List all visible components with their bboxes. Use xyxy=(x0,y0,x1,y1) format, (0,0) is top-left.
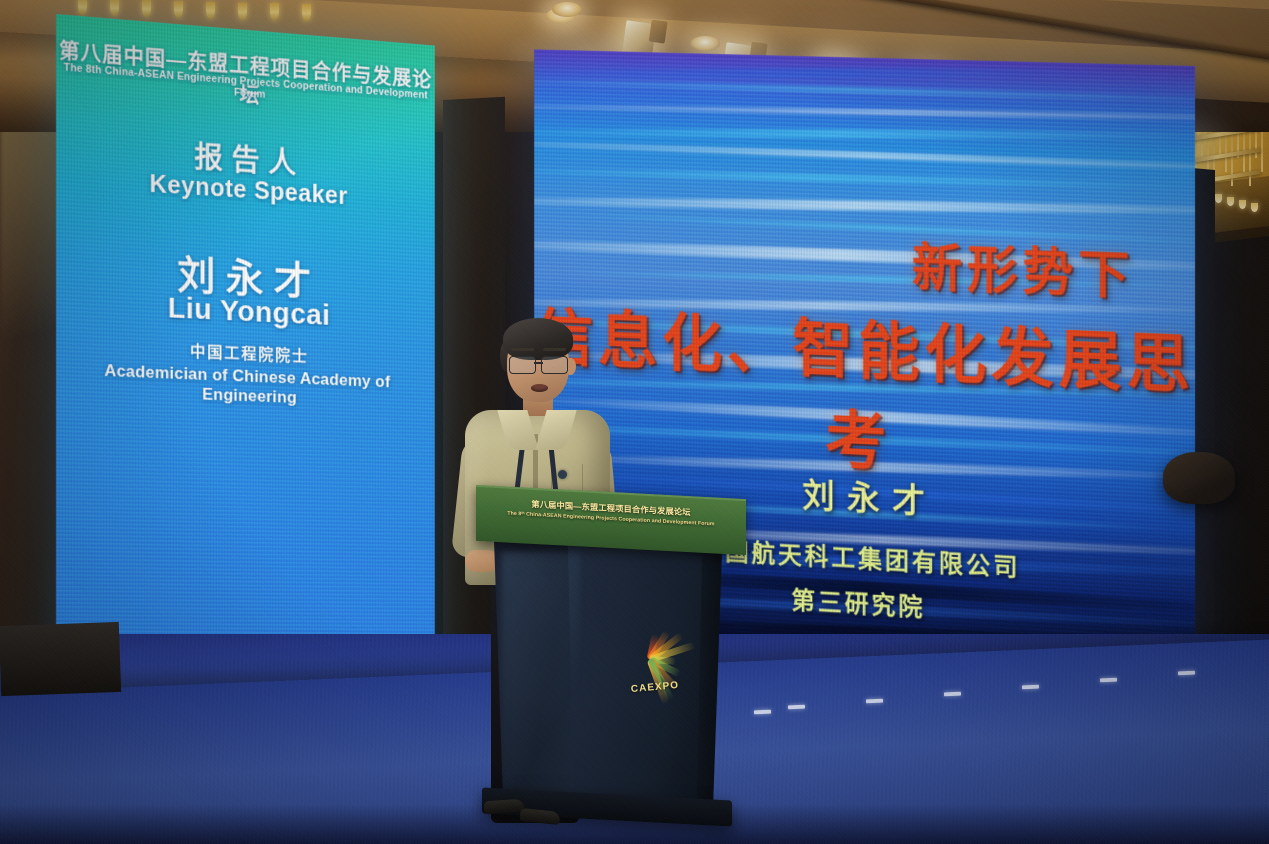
left-wall-highlight xyxy=(0,96,62,426)
chandelier-bulb xyxy=(1215,194,1222,203)
glasses-lens-right xyxy=(541,356,568,374)
stage-edge-marker xyxy=(1100,678,1117,683)
gold-bead-decor xyxy=(174,1,183,18)
podium: CAEXPO 第八届中国—东盟工程项目合作与发展论坛 The 8ᵗʰ China… xyxy=(476,492,758,822)
stage-photo: 第八届中国—东盟工程项目合作与发展论坛 The 8th China-ASEAN … xyxy=(0,0,1269,844)
stage-left-lip xyxy=(0,622,121,696)
chandelier-bulb xyxy=(1239,200,1246,209)
gold-bead-decor xyxy=(206,2,215,19)
caexpo-wordmark: CAEXPO xyxy=(616,679,695,697)
glasses-lens-left xyxy=(509,356,536,374)
chandelier-bulb xyxy=(1251,203,1258,212)
chandelier-bulb xyxy=(1227,197,1234,206)
glasses-bridge xyxy=(534,362,543,364)
podium-highlight xyxy=(502,552,580,802)
gold-bead-decor xyxy=(110,0,119,16)
speaker-brow-left xyxy=(511,348,534,351)
stage-edge-marker xyxy=(788,705,805,710)
dark-foreground-object xyxy=(1163,452,1235,504)
recessed-downlight xyxy=(690,36,720,51)
speaker-shoe-left xyxy=(484,799,525,815)
stage-edge-marker xyxy=(1022,685,1039,690)
glasses-icon xyxy=(507,356,571,373)
stage-edge-marker xyxy=(944,692,961,697)
speaker-hair xyxy=(503,318,573,360)
gold-bead-decor xyxy=(238,3,247,20)
badge-clip xyxy=(558,470,567,479)
recessed-downlight xyxy=(552,2,582,17)
speaker-brow-right xyxy=(543,348,566,351)
stage-edge-marker xyxy=(866,699,883,704)
caexpo-logo: CAEXPO xyxy=(616,620,694,704)
speaker-mouth xyxy=(531,384,548,392)
stage-edge-marker xyxy=(1178,671,1195,676)
gold-bead-decor xyxy=(142,0,151,17)
